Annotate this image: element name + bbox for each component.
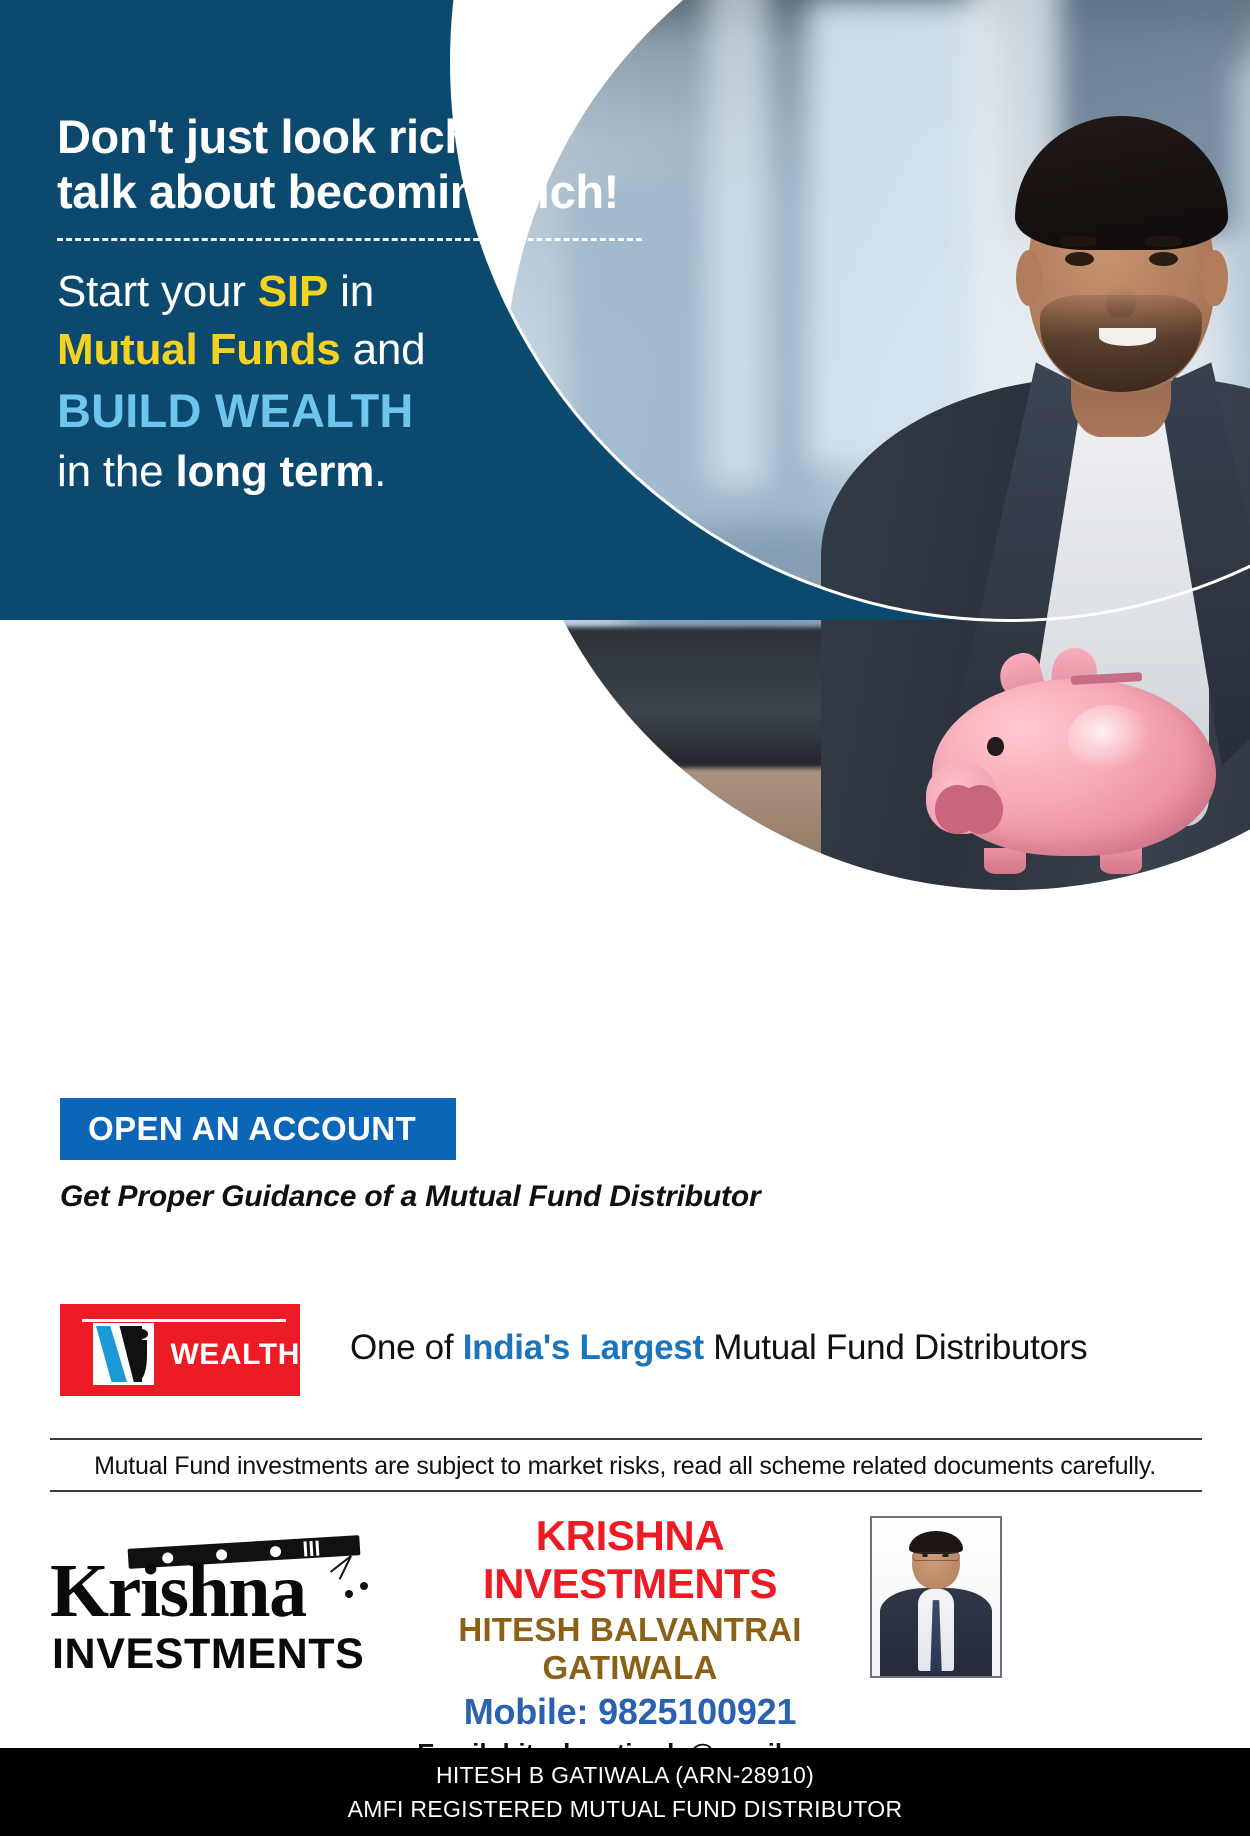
piggy-eye (987, 737, 1004, 757)
nj-wealth-logo: WEALTH (60, 1304, 300, 1396)
footer-arn-line: HITESH B GATIWALA (ARN-28910) (436, 1762, 814, 1789)
eyebrow-left (1060, 236, 1098, 247)
subheadline-line-2: Mutual Funds and (57, 321, 757, 380)
krishna-wordmark: Krishna (50, 1548, 306, 1635)
nj-tagline-highlight: India's Largest (463, 1328, 704, 1367)
open-account-button[interactable]: OPEN AN ACCOUNT (60, 1098, 456, 1160)
subheadline-line-4: in the long term. (57, 443, 757, 502)
nj-wealth-wordmark: WEALTH (170, 1338, 300, 1372)
dashed-divider (57, 238, 642, 241)
flute-bar (309, 1541, 313, 1556)
page-title: Don't just look rich, talk about becomin… (57, 110, 757, 220)
long-term-emphasis: long term (175, 447, 374, 496)
portrait-glasses-icon (912, 1552, 961, 1561)
nj-logo-rule (82, 1319, 286, 1322)
contact-person-name: HITESH BALVANTRAI GATIWALA (390, 1611, 870, 1687)
krishna-investments-subtext: INVESTMENTS (52, 1630, 364, 1679)
advisor-portrait (870, 1516, 1002, 1678)
footer-bar: HITESH B GATIWALA (ARN-28910) AMFI REGIS… (0, 1748, 1250, 1836)
subheadline-period: . (374, 447, 386, 496)
eyebrow-right (1145, 236, 1183, 247)
piggy-nostril (958, 785, 1003, 834)
nj-tagline: One of India's Largest Mutual Fund Distr… (350, 1328, 1087, 1368)
risk-disclaimer: Mutual Fund investments are subject to m… (0, 1452, 1250, 1481)
open-account-button-label: OPEN AN ACCOUNT (88, 1110, 416, 1148)
nj-tagline-a: One of (350, 1328, 463, 1367)
nj-j-stroke (134, 1340, 147, 1380)
nj-wealth-row: WEALTH One of India's Largest Mutual Fun… (60, 1304, 1195, 1400)
subheadline-line-1: Start your SIP in (57, 263, 757, 322)
ear-right (1201, 250, 1227, 306)
contact-mobile[interactable]: Mobile: 9825100921 (390, 1691, 870, 1733)
eye-left (1065, 252, 1094, 266)
flute-tassel (330, 1555, 352, 1573)
hero-copy: Don't just look rich, talk about becomin… (57, 110, 757, 501)
hero-section: Don't just look rich, talk about becomin… (0, 0, 1250, 1072)
smile (1099, 328, 1155, 346)
contact-company-name: KRISHNA INVESTMENTS (390, 1512, 870, 1608)
eye-right (1149, 252, 1178, 266)
footer-amfi-line: AMFI REGISTERED MUTUAL FUND DISTRIBUTOR (348, 1796, 903, 1823)
nj-tagline-c: Mutual Fund Distributors (704, 1328, 1087, 1367)
subheadline-text-and: and (341, 325, 426, 374)
subheadline-text-c: in (328, 267, 374, 316)
subheadline-text-a: Start your (57, 267, 258, 316)
cta-subtitle: Get Proper Guidance of a Mutual Fund Dis… (60, 1180, 760, 1214)
piggy-bank (919, 648, 1242, 870)
nj-j-dot (135, 1329, 148, 1339)
flute-bar (315, 1541, 319, 1556)
divider-bottom (50, 1490, 1202, 1492)
piggy-highlight (1068, 705, 1152, 772)
mutual-funds-highlight: Mutual Funds (57, 325, 341, 374)
divider-top (50, 1438, 1202, 1440)
subheadline-text-in-the: in the (57, 447, 175, 496)
hero-subheadline: Start your SIP in Mutual Funds and BUILD… (57, 263, 757, 501)
flute-tassel-bead (345, 1590, 353, 1598)
sip-highlight: SIP (258, 267, 328, 316)
build-wealth-highlight: BUILD WEALTH (57, 380, 757, 443)
flute-tassel-bead (360, 1582, 368, 1590)
nj-monogram-icon (93, 1323, 154, 1385)
krishna-investments-logo: Krishna INVESTMENTS (50, 1520, 360, 1670)
